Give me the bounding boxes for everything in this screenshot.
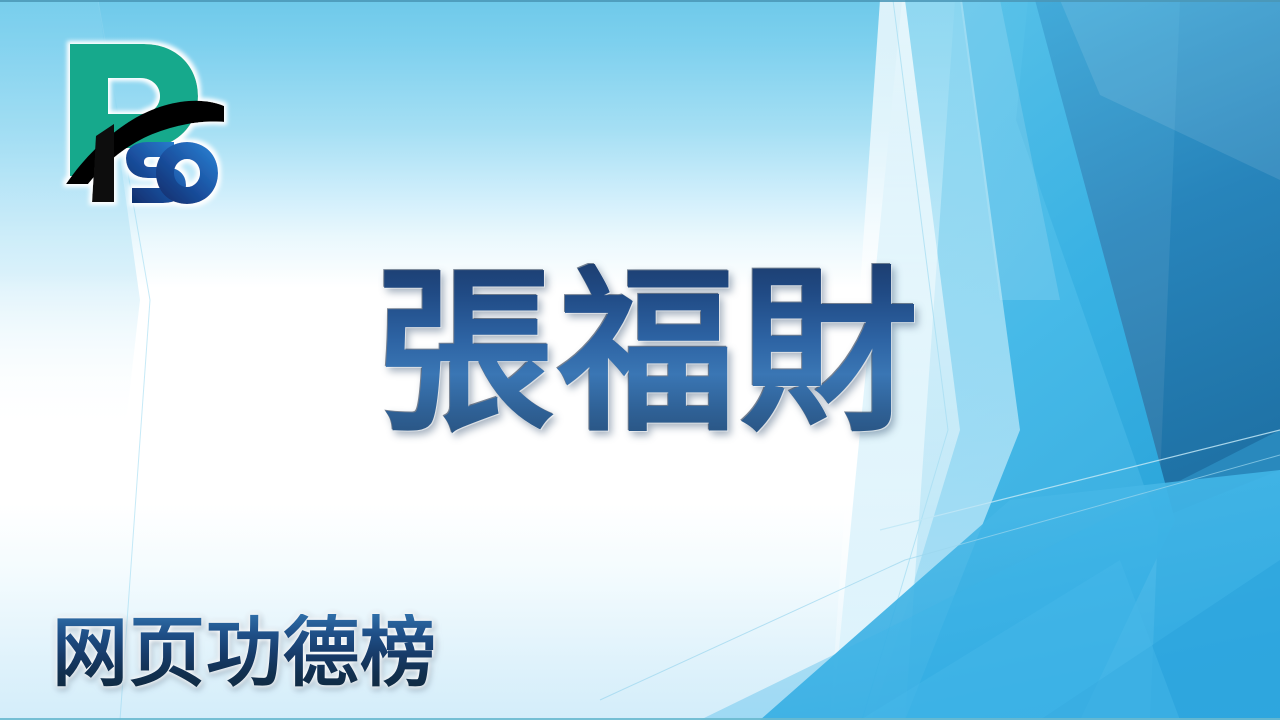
logo-wordmark-so [126, 142, 218, 204]
title-slide: 張福財 网页功德榜 [0, 0, 1280, 720]
pso-logo[interactable] [52, 26, 232, 211]
slide-top-rule [0, 0, 1280, 2]
pso-logo-marks [66, 44, 224, 204]
